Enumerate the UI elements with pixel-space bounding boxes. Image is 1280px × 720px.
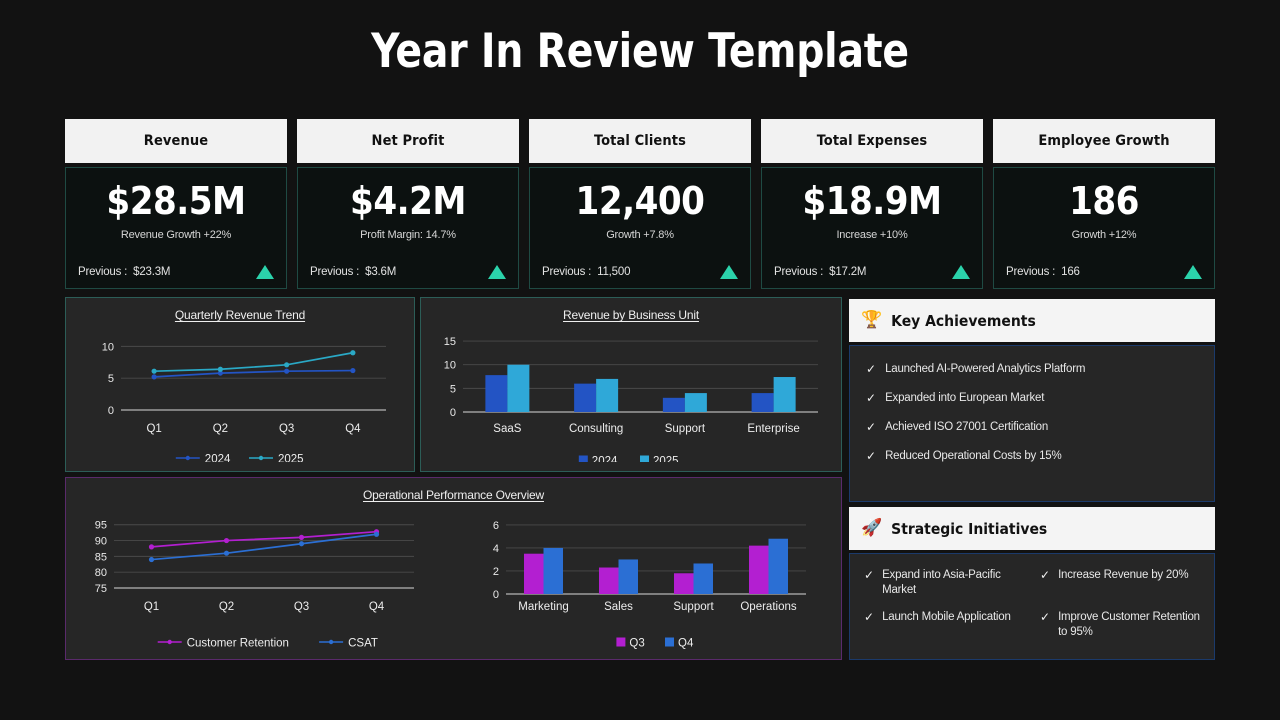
data-point xyxy=(152,374,157,379)
list-item-label: Launched AI-Powered Analytics Platform xyxy=(885,362,1085,376)
list-item-label: Expand into Asia-Pacific Market xyxy=(882,568,1026,598)
list-item[interactable]: ✓ Expanded into European Market xyxy=(866,391,1200,405)
data-point xyxy=(299,535,304,540)
legend-label: 2024 xyxy=(592,456,618,463)
legend-swatch xyxy=(616,638,625,647)
series-line xyxy=(152,534,377,559)
triangle-up-icon xyxy=(256,265,274,279)
kpi-previous-value: 11,500 xyxy=(597,266,630,278)
bar xyxy=(599,568,619,594)
kpi-footer: Previous : $3.6M xyxy=(310,265,506,279)
kpi-previous: Previous : $3.6M xyxy=(310,266,396,278)
data-point xyxy=(224,538,229,543)
kpi-subtext: Profit Margin: 14.7% xyxy=(310,229,506,241)
bar xyxy=(507,365,529,412)
kpi-row: Revenue $28.5M Revenue Growth +22% Previ… xyxy=(65,119,1215,289)
strategic-initiatives-grid: ✓ Expand into Asia-Pacific Market ✓ Incr… xyxy=(864,568,1202,640)
x-axis-tick: Marketing xyxy=(518,601,569,613)
data-point xyxy=(350,350,355,355)
list-item[interactable]: ✓ Achieved ISO 27001 Certification xyxy=(866,420,1200,434)
y-axis-tick: 75 xyxy=(95,583,107,595)
chart-panel-operational-performance: Operational Performance Overview 7580859… xyxy=(65,477,842,660)
kpi-previous: Previous : $17.2M xyxy=(774,266,866,278)
bar xyxy=(694,563,714,594)
x-axis-tick: Q3 xyxy=(279,423,294,435)
bar xyxy=(685,393,707,412)
y-axis-tick: 15 xyxy=(444,336,456,348)
legend-label: CSAT xyxy=(348,638,378,650)
kpi-previous-label: Previous : xyxy=(774,266,823,278)
check-icon: ✓ xyxy=(864,568,874,582)
list-item[interactable]: ✓ Reduced Operational Costs by 15% xyxy=(866,449,1200,463)
y-axis-tick: 0 xyxy=(493,589,499,601)
list-item[interactable]: ✓ Expand into Asia-Pacific Market xyxy=(864,568,1026,598)
strategic-initiatives-header: 🚀 Strategic Initiatives xyxy=(849,507,1215,550)
kpi-footer: Previous : 11,500 xyxy=(542,265,738,279)
bar xyxy=(752,393,774,412)
y-axis-tick: 95 xyxy=(95,520,107,532)
kpi-footer: Previous : 166 xyxy=(1006,265,1202,279)
kpi-card-total-clients[interactable]: Total Clients 12,400 Growth +7.8% Previo… xyxy=(529,119,751,289)
trophy-icon: 🏆 xyxy=(861,312,882,329)
x-axis-tick: Q1 xyxy=(144,601,159,613)
legend-label: 2025 xyxy=(653,456,679,463)
y-axis-tick: 5 xyxy=(108,373,114,385)
legend-marker xyxy=(186,456,190,460)
bar xyxy=(769,539,789,594)
x-axis-tick: Q4 xyxy=(345,423,361,435)
list-item-label: Expanded into European Market xyxy=(885,391,1044,405)
kpi-card-net-profit[interactable]: Net Profit $4.2M Profit Margin: 14.7% Pr… xyxy=(297,119,519,289)
data-point xyxy=(218,367,223,372)
series-line xyxy=(154,353,353,371)
y-axis-tick: 0 xyxy=(108,405,114,417)
y-axis-tick: 4 xyxy=(493,543,499,555)
legend-swatch xyxy=(640,456,649,463)
check-icon: ✓ xyxy=(866,362,876,376)
y-axis-tick: 6 xyxy=(493,520,499,532)
kpi-label: Employee Growth xyxy=(993,119,1215,163)
check-icon: ✓ xyxy=(866,420,876,434)
kpi-subtext: Increase +10% xyxy=(774,229,970,241)
legend-label: Q3 xyxy=(629,638,644,650)
quarterly-revenue-trend-chart: 0510Q1Q2Q3Q420242025 xyxy=(66,322,414,462)
legend-marker xyxy=(329,640,333,644)
bar xyxy=(574,384,596,412)
data-point xyxy=(224,551,229,556)
check-icon: ✓ xyxy=(1040,610,1050,624)
check-icon: ✓ xyxy=(866,449,876,463)
legend-label: Customer Retention xyxy=(187,638,289,650)
kpi-card-employee-growth[interactable]: Employee Growth 186 Growth +12% Previous… xyxy=(993,119,1215,289)
kpi-value: $28.5M xyxy=(78,182,274,220)
x-axis-tick: Q2 xyxy=(213,423,228,435)
bar xyxy=(544,548,564,594)
kpi-card-total-expenses[interactable]: Total Expenses $18.9M Increase +10% Prev… xyxy=(761,119,983,289)
rocket-icon: 🚀 xyxy=(861,520,882,537)
chart-title: Operational Performance Overview xyxy=(66,478,841,502)
kpi-subtext: Revenue Growth +22% xyxy=(78,229,274,241)
series-line xyxy=(154,371,353,377)
list-item[interactable]: ✓ Improve Customer Retention to 95% xyxy=(1040,610,1202,640)
check-icon: ✓ xyxy=(864,610,874,624)
list-item[interactable]: ✓ Launch Mobile Application xyxy=(864,610,1026,640)
legend-swatch xyxy=(665,638,674,647)
data-point xyxy=(284,362,289,367)
legend-marker xyxy=(168,640,172,644)
kpi-value: $18.9M xyxy=(774,182,970,220)
kpi-value: 12,400 xyxy=(542,182,738,220)
kpi-previous-value: 166 xyxy=(1061,266,1080,278)
bar xyxy=(619,559,639,594)
kpi-value: 186 xyxy=(1006,182,1202,220)
x-axis-tick: Support xyxy=(665,423,706,435)
kpi-body: $28.5M Revenue Growth +22% Previous : $2… xyxy=(65,167,287,289)
revenue-by-business-unit-chart: 051015SaaSConsultingSupportEnterprise202… xyxy=(421,322,841,462)
key-achievements-body: ✓ Launched AI-Powered Analytics Platform… xyxy=(849,345,1215,502)
x-axis-tick: Operations xyxy=(740,601,797,613)
kpi-previous-label: Previous : xyxy=(542,266,591,278)
page-title: Year In Review Template xyxy=(45,24,1235,79)
x-axis-tick: Q2 xyxy=(219,601,234,613)
bar xyxy=(485,375,507,412)
kpi-previous-value: $17.2M xyxy=(829,266,866,278)
list-item-label: Reduced Operational Costs by 15% xyxy=(885,449,1061,463)
y-axis-tick: 5 xyxy=(450,383,456,395)
kpi-body: 186 Growth +12% Previous : 166 xyxy=(993,167,1215,289)
legend-swatch xyxy=(579,456,588,463)
data-point xyxy=(299,541,304,546)
y-axis-tick: 80 xyxy=(95,567,107,579)
kpi-subtext: Growth +7.8% xyxy=(542,229,738,241)
kpi-previous-value: $3.6M xyxy=(365,266,396,278)
triangle-up-icon xyxy=(952,265,970,279)
kpi-subtext: Growth +12% xyxy=(1006,229,1202,241)
slide-canvas: Year In Review Template Revenue $28.5M R… xyxy=(0,0,1280,720)
x-axis-tick: Sales xyxy=(604,601,633,613)
chart-title: Revenue by Business Unit xyxy=(421,298,841,322)
kpi-previous: Previous : 11,500 xyxy=(542,266,630,278)
kpi-previous-label: Previous : xyxy=(1006,266,1055,278)
chart-panel-quarterly-revenue-trend: Quarterly Revenue Trend 0510Q1Q2Q3Q42024… xyxy=(65,297,415,472)
kpi-body: $18.9M Increase +10% Previous : $17.2M xyxy=(761,167,983,289)
data-point xyxy=(149,557,154,562)
data-point xyxy=(374,532,379,537)
x-axis-tick: Consulting xyxy=(569,423,623,435)
data-point xyxy=(149,544,154,549)
kpi-footer: Previous : $23.3M xyxy=(78,265,274,279)
kpi-label: Total Expenses xyxy=(761,119,983,163)
y-axis-tick: 2 xyxy=(493,566,499,578)
bar xyxy=(524,554,544,594)
legend-label: 2024 xyxy=(205,454,231,463)
y-axis-tick: 90 xyxy=(95,536,107,548)
kpi-label: Total Clients xyxy=(529,119,751,163)
legend-label: 2025 xyxy=(278,454,304,463)
kpi-previous-label: Previous : xyxy=(78,266,127,278)
y-axis-tick: 85 xyxy=(95,551,107,563)
kpi-label: Net Profit xyxy=(297,119,519,163)
data-point xyxy=(350,368,355,373)
chart-panel-revenue-by-business-unit: Revenue by Business Unit 051015SaaSConsu… xyxy=(420,297,842,472)
kpi-value: $4.2M xyxy=(310,182,506,220)
y-axis-tick: 0 xyxy=(450,407,456,419)
triangle-up-icon xyxy=(1184,265,1202,279)
check-icon: ✓ xyxy=(866,391,876,405)
kpi-body: 12,400 Growth +7.8% Previous : 11,500 xyxy=(529,167,751,289)
list-item-label: Increase Revenue by 20% xyxy=(1058,568,1188,583)
kpi-card-revenue[interactable]: Revenue $28.5M Revenue Growth +22% Previ… xyxy=(65,119,287,289)
check-icon: ✓ xyxy=(1040,568,1050,582)
strategic-initiatives-body: ✓ Expand into Asia-Pacific Market ✓ Incr… xyxy=(849,553,1215,660)
kpi-previous-value: $23.3M xyxy=(133,266,170,278)
key-achievements-panel: 🏆 Key Achievements ✓ Launched AI-Powered… xyxy=(849,299,1215,502)
strategic-initiatives-title: Strategic Initiatives xyxy=(891,520,1047,538)
bar xyxy=(674,573,694,594)
triangle-up-icon xyxy=(488,265,506,279)
kpi-body: $4.2M Profit Margin: 14.7% Previous : $3… xyxy=(297,167,519,289)
key-achievements-header: 🏆 Key Achievements xyxy=(849,299,1215,342)
strategic-initiatives-panel: 🚀 Strategic Initiatives ✓ Expand into As… xyxy=(849,507,1215,660)
x-axis-tick: Q1 xyxy=(146,423,161,435)
y-axis-tick: 10 xyxy=(102,341,114,353)
x-axis-tick: SaaS xyxy=(493,423,521,435)
data-point xyxy=(284,369,289,374)
list-item-label: Improve Customer Retention to 95% xyxy=(1058,610,1202,640)
bar xyxy=(663,398,685,412)
bar xyxy=(774,377,796,412)
data-point xyxy=(152,369,157,374)
x-axis-tick: Q3 xyxy=(294,601,309,613)
kpi-footer: Previous : $17.2M xyxy=(774,265,970,279)
y-axis-tick: 10 xyxy=(444,360,456,372)
list-item-label: Achieved ISO 27001 Certification xyxy=(885,420,1048,434)
list-item[interactable]: ✓ Launched AI-Powered Analytics Platform xyxy=(866,362,1200,376)
legend-label: Q4 xyxy=(678,638,694,650)
x-axis-tick: Enterprise xyxy=(747,423,799,435)
kpi-previous-label: Previous : xyxy=(310,266,359,278)
triangle-up-icon xyxy=(720,265,738,279)
operational-performance-charts: 7580859095Q1Q2Q3Q4Customer RetentionCSAT… xyxy=(66,502,841,652)
legend-marker xyxy=(259,456,263,460)
kpi-label: Revenue xyxy=(65,119,287,163)
key-achievements-title: Key Achievements xyxy=(891,312,1036,330)
list-item[interactable]: ✓ Increase Revenue by 20% xyxy=(1040,568,1202,598)
x-axis-tick: Q4 xyxy=(369,601,385,613)
x-axis-tick: Support xyxy=(673,601,714,613)
kpi-previous: Previous : $23.3M xyxy=(78,266,170,278)
chart-title: Quarterly Revenue Trend xyxy=(66,298,414,322)
bar xyxy=(749,546,769,594)
list-item-label: Launch Mobile Application xyxy=(882,610,1011,625)
kpi-previous: Previous : 166 xyxy=(1006,266,1080,278)
bar xyxy=(596,379,618,412)
